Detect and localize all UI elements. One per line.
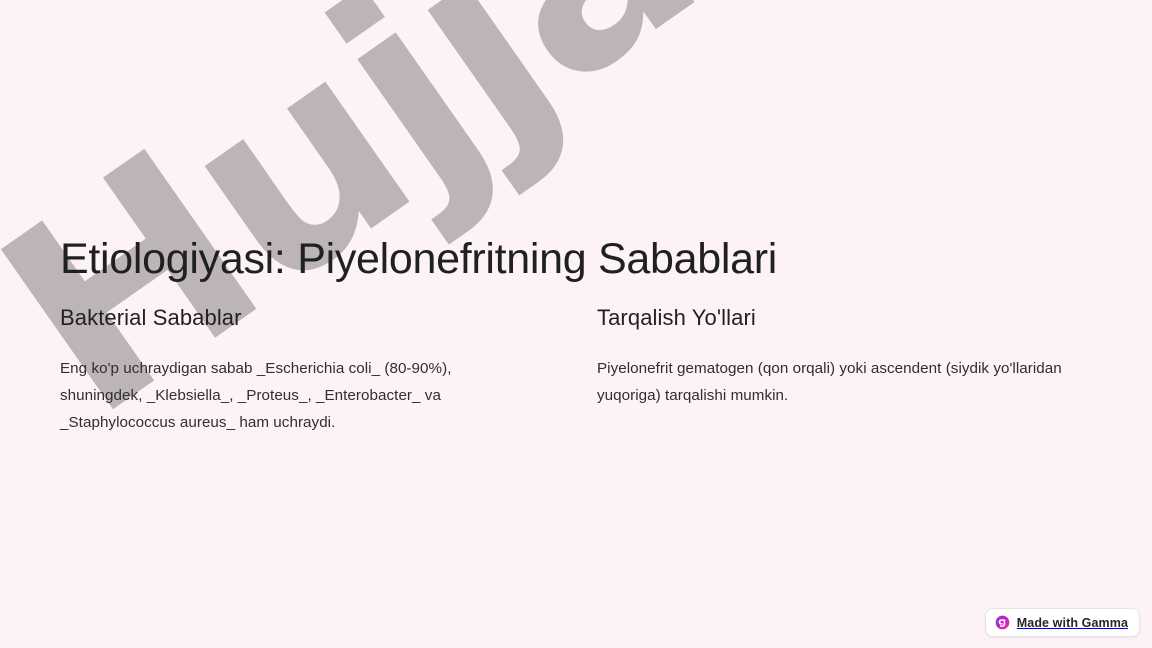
column-body-left: Eng ko'p uchraydigan sabab _Escherichia … [60,355,532,436]
gamma-logo-icon [995,615,1010,630]
made-with-gamma-label: Made with Gamma [1017,616,1128,630]
column-bakterial-sabablar: Bakterial Sabablar Eng ko'p uchraydigan … [60,304,532,436]
made-with-gamma-badge[interactable]: Made with Gamma [985,608,1140,637]
slide-content: Etiologiyasi: Piyelonefritning Sabablari… [0,0,1152,648]
presentation-slide: Hujjat24 Etiologiyasi: Piyelonefritning … [0,0,1152,648]
column-heading-left: Bakterial Sabablar [60,304,532,333]
column-heading-right: Tarqalish Yo'llari [597,304,1069,333]
column-tarqalish-yollari: Tarqalish Yo'llari Piyelonefrit gematoge… [597,304,1069,409]
page-title: Etiologiyasi: Piyelonefritning Sabablari [60,235,1080,285]
column-body-right: Piyelonefrit gematogen (qon orqali) yoki… [597,355,1069,409]
